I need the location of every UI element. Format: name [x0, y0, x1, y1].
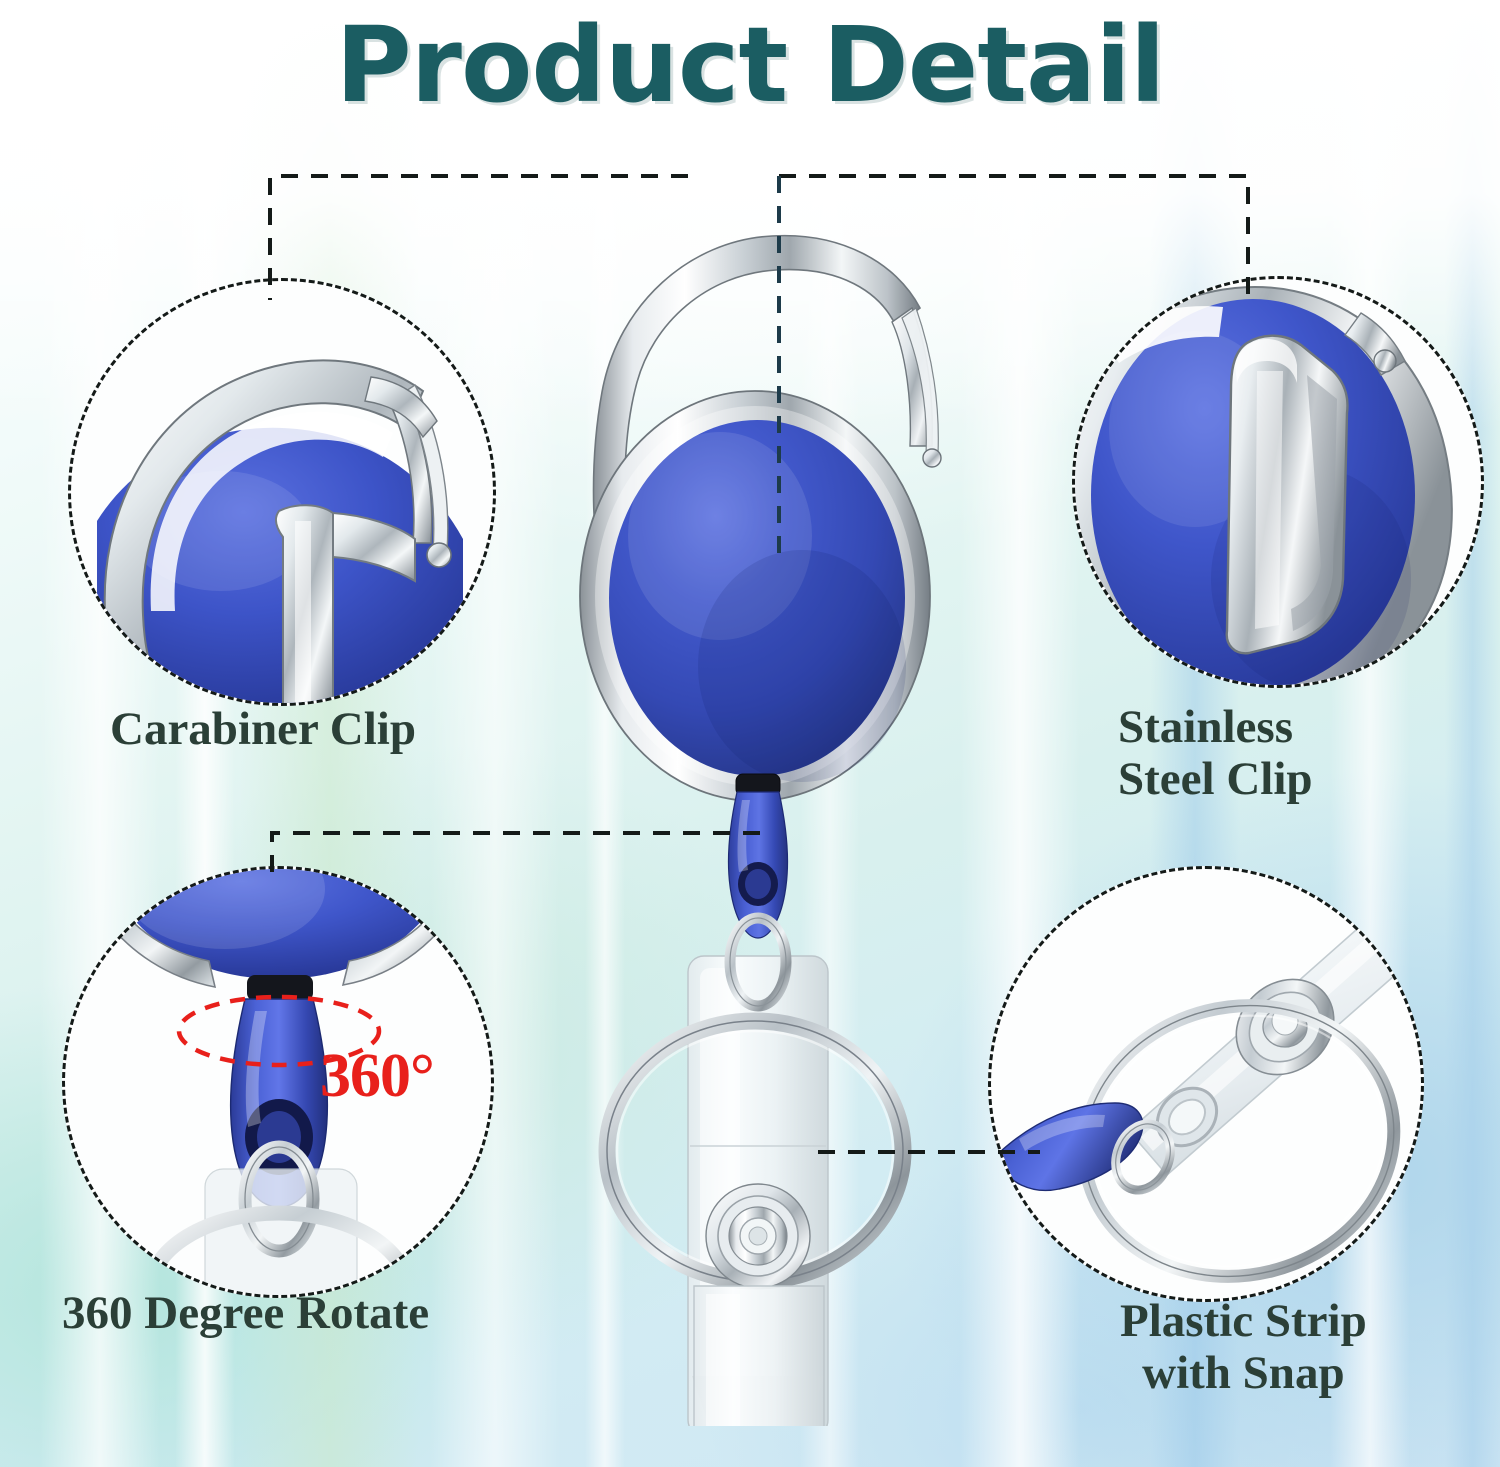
stainless-steel-clip [1227, 336, 1348, 654]
strap-front-tongue [694, 1286, 824, 1426]
clear-strap-fragment [205, 1169, 357, 1298]
metal-snap-button [706, 1184, 810, 1288]
detail-circle-plastic-strip-with-snap [988, 866, 1424, 1302]
carabiner-clip-closeup [71, 281, 496, 706]
page-title: Product Detail [0, 4, 1500, 126]
product-main-image [540, 196, 970, 1426]
product-illustration [540, 196, 970, 1426]
stainless-clip-closeup [1075, 279, 1484, 688]
feature-label-stainless-steel-clip: Stainless Steel Clip [1118, 702, 1313, 805]
product-detail-infographic: Product Detail [0, 0, 1500, 1467]
plastic-strip-closeup [991, 869, 1424, 1302]
detail-circle-360-degree-rotate: 360° [62, 866, 494, 1298]
detail-circle-stainless-steel-clip [1072, 276, 1484, 688]
feature-label-360-degree-rotate: 360 Degree Rotate [62, 1288, 429, 1340]
feature-label-plastic-strip-with-snap: Plastic Strip with Snap [1120, 1296, 1367, 1399]
detail-circle-carabiner-clip [68, 278, 496, 706]
feature-label-carabiner-clip: Carabiner Clip [110, 704, 416, 756]
rotation-badge: 360° [320, 1041, 434, 1112]
